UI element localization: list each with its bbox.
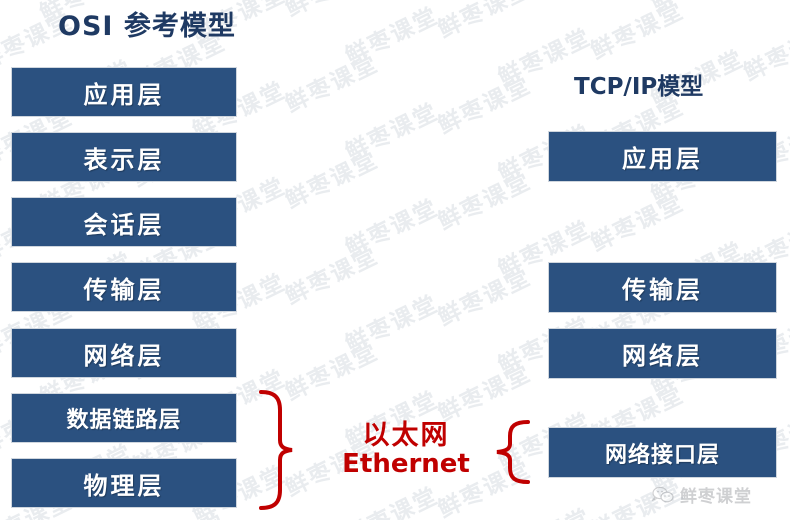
tcpip-layer-network[interactable]: 网络层 (548, 328, 777, 379)
osi-layer-application[interactable]: 应用层 (11, 67, 237, 117)
tcpip-model-title: TCP/IP模型 (574, 67, 703, 101)
tcpip-layer-network-interface[interactable]: 网络接口层 (548, 427, 777, 478)
osi-layer-transport[interactable]: 传输层 (11, 262, 237, 312)
ethernet-label-en: Ethernet (318, 450, 494, 478)
osi-model-title: OSI 参考模型 (58, 4, 236, 43)
ethernet-group-label: 以太网 Ethernet (318, 421, 494, 478)
diagram-canvas: 鲜枣课堂鲜枣课堂鲜枣课堂鲜枣课堂鲜枣课堂鲜枣课堂鲜枣课堂鲜枣课堂鲜枣课堂鲜枣课堂… (0, 0, 790, 520)
ethernet-label-cn: 以太网 (318, 421, 494, 450)
brand-footer: 鲜枣课堂 (652, 482, 752, 507)
osi-layer-network[interactable]: 网络层 (11, 328, 237, 378)
brand-name: 鲜枣课堂 (680, 482, 752, 507)
tcpip-layer-application[interactable]: 应用层 (548, 131, 777, 182)
tcpip-layer-transport[interactable]: 传输层 (548, 262, 777, 313)
osi-layer-data-link[interactable]: 数据链路层 (11, 393, 237, 443)
left-brace-icon (258, 388, 304, 512)
osi-layer-session[interactable]: 会话层 (11, 197, 237, 247)
wechat-icon (652, 486, 674, 504)
osi-layer-physical[interactable]: 物理层 (11, 458, 237, 508)
osi-layer-presentation[interactable]: 表示层 (11, 132, 237, 182)
